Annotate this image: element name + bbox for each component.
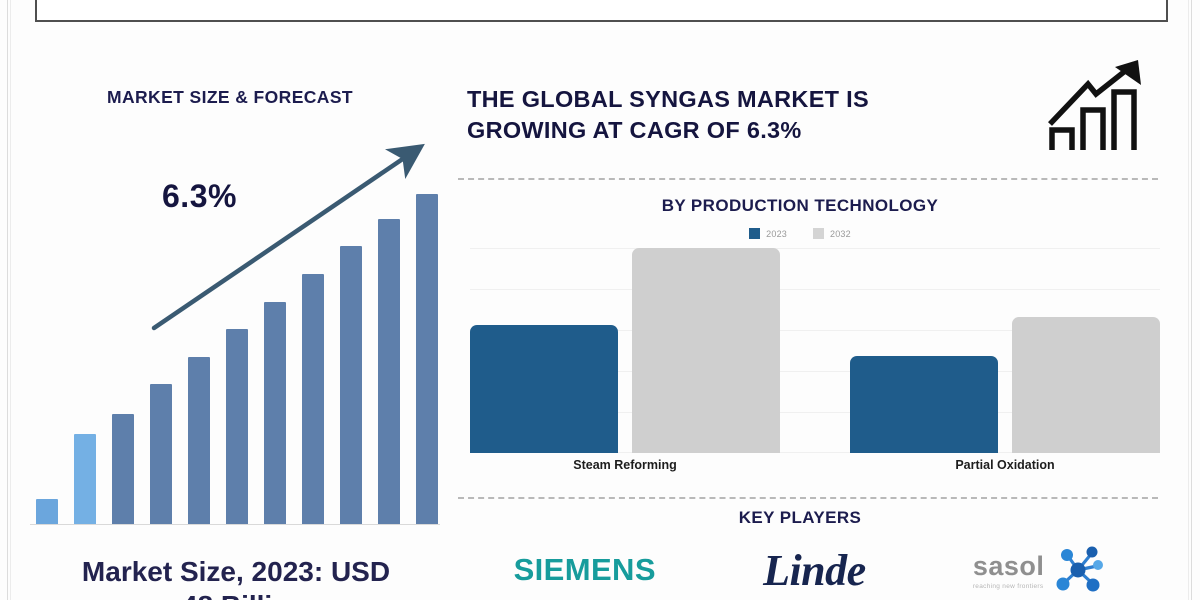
bar-partial-oxidation-2032: [1012, 317, 1160, 453]
category-label-partial-oxidation: Partial Oxidation: [850, 458, 1160, 472]
key-player-siemens: SIEMENS: [514, 552, 656, 588]
bar-slot: [414, 149, 440, 524]
bar-slot: [224, 149, 250, 524]
key-player-linde: Linde: [763, 545, 866, 596]
production-technology-legend: 2023 2032: [450, 228, 1150, 239]
molecule-icon: [1052, 544, 1106, 596]
key-player-sasol: sasol reaching new frontiers: [973, 544, 1107, 596]
bar-2032: [416, 194, 438, 524]
bar-steam-reforming-2032: [632, 248, 780, 453]
frame-left-rule-2: [10, 0, 11, 600]
bar-partial-oxidation-2023: [850, 356, 998, 453]
left-section-title: MARKET SIZE & FORECAST: [12, 87, 448, 108]
bar-2029: [302, 274, 324, 524]
bar-slot: [34, 149, 60, 524]
divider-bottom: [458, 497, 1158, 499]
chart-baseline: [30, 524, 440, 525]
infographic-canvas: GLOBAL SYNGAS MARKET MARKET SIZE & FOREC…: [0, 0, 1200, 600]
divider-top: [458, 178, 1158, 180]
bar-slot: [148, 149, 174, 524]
bar-slot: [72, 149, 98, 524]
sasol-logo-text: sasol: [973, 551, 1045, 582]
cagr-headline-line-2: GROWING AT CAGR OF 6.3%: [467, 115, 1027, 146]
bar-slot: [262, 149, 288, 524]
right-panel: THE GLOBAL SYNGAS MARKET IS GROWING AT C…: [450, 0, 1192, 600]
bar-2030: [340, 246, 362, 524]
market-size-line-2: ~48 Billion: [12, 589, 460, 600]
market-size-bars: [34, 149, 440, 524]
production-technology-chart: [470, 248, 1160, 453]
bar-2027: [226, 329, 248, 524]
bar-2028: [264, 302, 286, 524]
bar-2024: [112, 414, 134, 524]
key-players-title: KEY PLAYERS: [450, 508, 1150, 528]
cagr-headline-line-1: THE GLOBAL SYNGAS MARKET IS: [467, 84, 1027, 115]
bar-group-steam-reforming: [470, 248, 780, 453]
sasol-logo-tagline: reaching new frontiers: [973, 583, 1044, 590]
legend-label-2023: 2023: [766, 229, 787, 239]
production-technology-title: BY PRODUCTION TECHNOLOGY: [450, 196, 1150, 216]
siemens-logo-text: SIEMENS: [514, 552, 656, 588]
frame-left-rule: [7, 0, 8, 600]
bar-group-partial-oxidation: [850, 248, 1160, 453]
legend-item-2032[interactable]: 2032: [813, 228, 851, 239]
key-players-list: SIEMENS Linde sasol reaching new frontie…: [460, 540, 1160, 600]
production-technology-bar-groups: [470, 248, 1160, 453]
market-size-value: Market Size, 2023: USD ~48 Billion: [12, 555, 460, 600]
cagr-headline: THE GLOBAL SYNGAS MARKET IS GROWING AT C…: [467, 84, 1027, 146]
bar-slot: [338, 149, 364, 524]
market-size-bar-chart: 2022 2023 2024 2025 2026 2027 2028 2029 …: [20, 145, 440, 525]
legend-swatch-2023: [749, 228, 760, 239]
bar-2025: [150, 384, 172, 524]
legend-item-2023[interactable]: 2023: [749, 228, 787, 239]
bar-2022: [36, 499, 58, 524]
market-size-forecast-panel: MARKET SIZE & FORECAST 6.3%: [12, 30, 448, 600]
bar-2023: [74, 434, 96, 524]
bar-slot: [300, 149, 326, 524]
market-size-line-1: Market Size, 2023: USD: [12, 555, 460, 589]
bar-2031: [378, 219, 400, 524]
bar-slot: [186, 149, 212, 524]
bar-slot: [110, 149, 136, 524]
legend-label-2032: 2032: [830, 229, 851, 239]
growth-bar-chart-icon: [1042, 54, 1152, 154]
bar-steam-reforming-2023: [470, 325, 618, 453]
production-technology-category-axis: Steam Reforming Partial Oxidation: [470, 458, 1160, 472]
linde-logo-text: Linde: [763, 545, 866, 596]
bar-slot: [376, 149, 402, 524]
bar-2026: [188, 357, 210, 524]
category-label-steam-reforming: Steam Reforming: [470, 458, 780, 472]
legend-swatch-2032: [813, 228, 824, 239]
